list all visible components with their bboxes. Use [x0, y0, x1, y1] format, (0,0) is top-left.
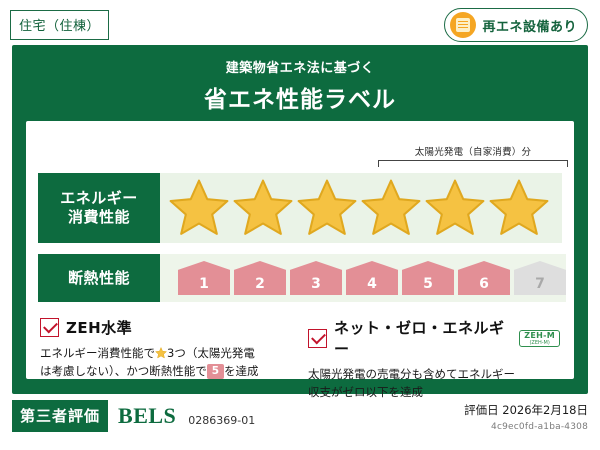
star-rating [160, 177, 550, 239]
callout-zeh-text-3: は考慮しない）、かつ断熱性能で [40, 364, 207, 378]
sun-icon [450, 12, 476, 38]
achievement-callouts: ZEH水準 エネルギー消費性能で3つ（太陽光発電 は考慮しない）、かつ断熱性能で… [40, 317, 560, 402]
checkbox-checked-icon [308, 329, 327, 348]
insulation-chip: 6 [458, 261, 510, 295]
star-icon [296, 177, 358, 239]
callout-zeh-title: ZEH水準 [66, 317, 132, 338]
insulation-performance-row: 断熱性能 1234567 [38, 254, 562, 302]
callout-zeh-text-2: 3つ（太陽光発電 [167, 346, 255, 360]
callout-net-zero-head: ネット・ゼロ・エネルギー ZEH-M (ZEH-M) [308, 317, 560, 359]
energy-performance-row: エネルギー 消費性能 [38, 173, 562, 243]
callout-zeh-chip: 5 [207, 364, 224, 379]
building-type-badge: 住宅（住棟） [10, 10, 109, 40]
panel-title: 省エネ性能ラベル [12, 80, 588, 114]
footer: 第三者評価 BELS 0286369-01 評価日 2026年2月18日 4c9… [12, 400, 588, 438]
zeh-m-mark-line2: (ZEH-M) [524, 341, 555, 346]
footer-right: 評価日 2026年2月18日 4c9ec0fd-a1ba-4308 [464, 402, 588, 432]
callout-net-zero-text-2: 収支がゼロ以下を達成 [308, 385, 423, 399]
third-party-evaluation-badge: 第三者評価 [12, 400, 108, 432]
energy-performance-label-line2: 消費性能 [68, 208, 130, 227]
insulation-chip: 7 [514, 261, 566, 295]
renewable-energy-badge: 再エネ設備あり [444, 8, 588, 42]
insulation-performance-label: 断熱性能 [38, 254, 160, 302]
callout-net-zero: ネット・ゼロ・エネルギー ZEH-M (ZEH-M) 太陽光発電の売電分も含めて… [308, 317, 560, 402]
star-icon [360, 177, 422, 239]
inline-star-icon [155, 347, 167, 359]
callout-net-zero-title: ネット・ゼロ・エネルギー [334, 317, 508, 359]
solar-annotation-bracket [378, 160, 568, 167]
label-card: 太陽光発電（自家消費）分 エネルギー 消費性能 断熱性能 1234567 [26, 121, 574, 379]
energy-label-document: 住宅（住棟） 再エネ設備あり 建築物省エネ法に基づく 省エネ性能ラベル 太陽光発… [0, 0, 600, 450]
energy-performance-label: エネルギー 消費性能 [38, 173, 160, 243]
insulation-chip: 3 [290, 261, 342, 295]
callout-zeh-body: エネルギー消費性能で3つ（太陽光発電 は考慮しない）、かつ断熱性能で5を達成 [40, 345, 292, 381]
callout-zeh: ZEH水準 エネルギー消費性能で3つ（太陽光発電 は考慮しない）、かつ断熱性能で… [40, 317, 292, 402]
star-icon [424, 177, 486, 239]
footer-left: 第三者評価 BELS 0286369-01 [12, 400, 255, 432]
energy-performance-value [160, 173, 562, 243]
callout-net-zero-text-1: 太陽光発電の売電分も含めてエネルギー [308, 367, 515, 381]
zeh-m-mark-line1: ZEH-M [524, 332, 555, 340]
evaluation-id: 4c9ec0fd-a1ba-4308 [464, 422, 588, 432]
callout-zeh-text-4: を達成 [224, 364, 259, 378]
callout-zeh-text-1: エネルギー消費性能で [40, 346, 155, 360]
callout-net-zero-body: 太陽光発電の売電分も含めてエネルギー 収支がゼロ以下を達成 [308, 366, 560, 402]
panel-subtitle: 建築物省エネ法に基づく [12, 57, 588, 76]
callout-zeh-head: ZEH水準 [40, 317, 292, 338]
star-icon [168, 177, 230, 239]
label-panel: 建築物省エネ法に基づく 省エネ性能ラベル 太陽光発電（自家消費）分 エネルギー … [12, 45, 588, 394]
renewable-energy-badge-label: 再エネ設備あり [482, 16, 577, 35]
zeh-m-mark-icon: ZEH-M (ZEH-M) [519, 330, 560, 347]
star-icon [232, 177, 294, 239]
solar-annotation: 太陽光発電（自家消費）分 [378, 144, 568, 167]
checkbox-checked-icon [40, 318, 59, 337]
energy-performance-label-line1: エネルギー [60, 189, 138, 208]
insulation-chip: 1 [178, 261, 230, 295]
star-icon [488, 177, 550, 239]
solar-annotation-label: 太陽光発電（自家消費）分 [378, 144, 568, 158]
insulation-chip: 4 [346, 261, 398, 295]
certificate-number: 0286369-01 [188, 406, 255, 427]
insulation-chip: 5 [402, 261, 454, 295]
evaluation-date: 評価日 2026年2月18日 [464, 402, 588, 418]
bels-logo: BELS [118, 403, 176, 429]
insulation-performance-value: 1234567 [160, 254, 566, 302]
insulation-chip: 2 [234, 261, 286, 295]
insulation-chip-scale: 1234567 [160, 261, 566, 295]
